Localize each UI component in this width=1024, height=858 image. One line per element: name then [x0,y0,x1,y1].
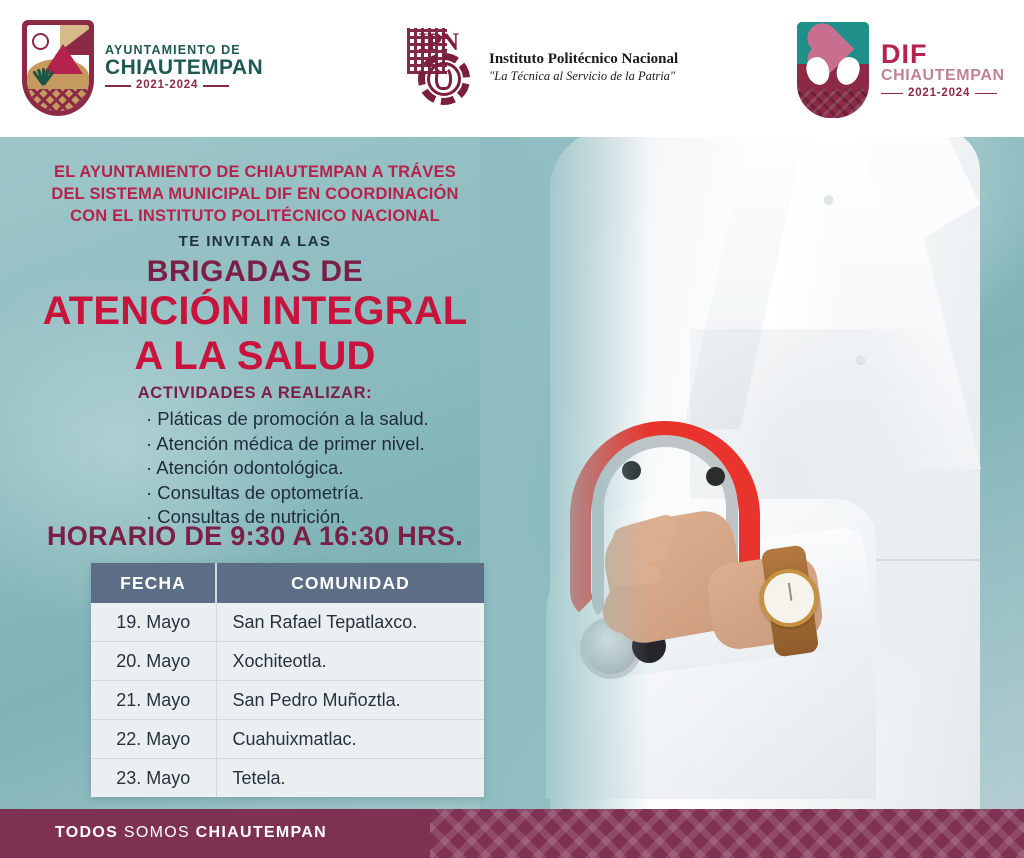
ipn-name: Instituto Politécnico Nacional [489,51,678,68]
intro-line-2: DEL SISTEMA MUNICIPAL DIF EN COORDINACIÓ… [0,184,510,206]
text-content-column: EL AYUNTAMIENTO DE CHIAUTEMPAN A TRÁVES … [0,137,540,809]
logo-header-bar: AYUNTAMIENTO DE CHIAUTEMPAN 2021-2024 IP… [0,0,1024,137]
list-item: · Pláticas de promoción a la salud. [146,407,546,432]
ipn-motto: "La Técnica al Servicio de la Patria" [489,69,678,84]
table-row: 21. Mayo San Pedro Muñoztla. [91,681,484,720]
table-row: 19. Mayo San Rafael Tepatlaxco. [91,603,484,642]
cell-comunidad: San Pedro Muñoztla. [216,681,484,720]
footer-bar: TODOS SOMOS CHIAUTEMPAN [0,809,1024,858]
ayuntamiento-years-row: 2021-2024 [105,80,263,92]
table-header-fecha: FECHA [91,563,216,603]
footer-slogan: TODOS SOMOS CHIAUTEMPAN [55,824,327,842]
dif-line1: DIF [881,41,1005,69]
list-item: · Atención médica de primer nivel. [146,432,546,457]
cell-fecha: 19. Mayo [91,603,216,642]
list-item: · Atención odontológica. [146,456,546,481]
dif-years: 2021-2024 [908,88,970,100]
footer-slogan-normal: SOMOS [118,824,196,841]
ipn-logo-group: IPN Instituto Politécnico Nacional "La T… [405,26,678,108]
dif-years-row: 2021-2024 [881,88,1005,100]
dif-line2: CHIAUTEMPAN [881,68,1005,84]
cell-fecha: 20. Mayo [91,642,216,681]
footer-slogan-bold2: CHIAUTEMPAN [196,824,327,841]
cell-fecha: 21. Mayo [91,681,216,720]
table-header-comunidad: COMUNIDAD [216,563,484,603]
cell-comunidad: San Rafael Tepatlaxco. [216,603,484,642]
ayuntamiento-line2: CHIAUTEMPAN [105,57,263,78]
cell-comunidad: Tetela. [216,759,484,798]
chiautempan-shield-icon [22,20,94,116]
cell-fecha: 23. Mayo [91,759,216,798]
ayuntamiento-logo-group: AYUNTAMIENTO DE CHIAUTEMPAN 2021-2024 [22,20,263,116]
ipn-emblem-icon: IPN [405,26,479,108]
schedule-table: FECHA COMUNIDAD 19. Mayo San Rafael Tepa… [91,563,484,797]
title-line-1: ATENCIÓN INTEGRAL [0,289,510,334]
cell-comunidad: Cuahuixmatlac. [216,720,484,759]
poster-root: AYUNTAMIENTO DE CHIAUTEMPAN 2021-2024 IP… [0,0,1024,858]
rule-left-icon [105,85,131,87]
rule-right-icon [975,93,997,95]
activities-list: · Pláticas de promoción a la salud. · At… [146,407,546,530]
footer-herringbone-pattern [430,809,1024,858]
intro-line-3: CON EL INSTITUTO POLITÉCNICO NACIONAL [0,206,510,228]
activities-heading: ACTIVIDADES A REALIZAR: [0,384,510,403]
dif-logo-group: DIF CHIAUTEMPAN 2021-2024 [797,22,1005,118]
footer-slogan-bold1: TODOS [55,824,118,841]
poster-body: EL AYUNTAMIENTO DE CHIAUTEMPAN A TRÁVES … [0,137,1024,809]
schedule-hours-label: HORARIO DE 9:30 A 16:30 HRS. [0,521,510,552]
rule-left-icon [881,93,903,95]
intro-paragraph: EL AYUNTAMIENTO DE CHIAUTEMPAN A TRÁVES … [0,162,510,227]
dif-shield-heart-hands-icon [797,22,869,118]
ayuntamiento-line1: AYUNTAMIENTO DE [105,44,263,57]
cell-fecha: 22. Mayo [91,720,216,759]
brigadas-label: BRIGADAS DE [0,255,510,289]
page-title: ATENCIÓN INTEGRAL A LA SALUD [0,289,510,379]
rule-right-icon [203,85,229,87]
intro-line-1: EL AYUNTAMIENTO DE CHIAUTEMPAN A TRÁVES [0,162,510,184]
title-line-2: A LA SALUD [0,334,510,379]
table-row: 23. Mayo Tetela. [91,759,484,798]
list-item: · Consultas de optometría. [146,481,546,506]
table-row: 20. Mayo Xochiteotla. [91,642,484,681]
table-row: 22. Mayo Cuahuixmatlac. [91,720,484,759]
invite-label: TE INVITAN A LAS [0,233,510,250]
ayuntamiento-years: 2021-2024 [136,80,198,92]
table-header-row: FECHA COMUNIDAD [91,563,484,603]
cell-comunidad: Xochiteotla. [216,642,484,681]
